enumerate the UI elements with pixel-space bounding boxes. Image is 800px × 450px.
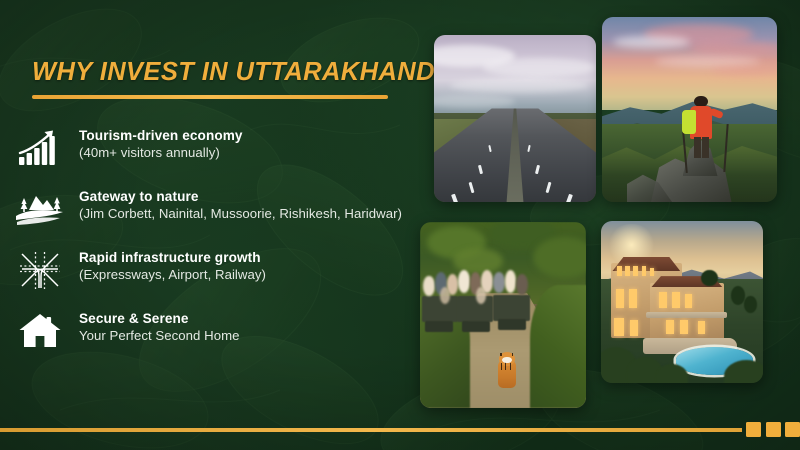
house-icon — [14, 309, 66, 353]
feature-item-secure-home: Secure & Serene Your Perfect Second Home — [14, 309, 414, 353]
growth-chart-icon — [14, 126, 66, 170]
photo-villa — [601, 221, 763, 383]
photo-hiker — [602, 17, 777, 202]
feature-subtitle: (Jim Corbett, Nainital, Mussoorie, Rishi… — [79, 205, 402, 222]
feature-item-infrastructure: Rapid infrastructure growth (Expressways… — [14, 248, 414, 292]
feature-title: Secure & Serene — [79, 310, 240, 327]
feature-text-secure-home: Secure & Serene Your Perfect Second Home — [79, 309, 240, 345]
feature-list: Tourism-driven economy (40m+ visitors an… — [14, 126, 414, 353]
mountain-nature-icon — [14, 187, 66, 231]
title-underline — [32, 95, 388, 99]
feature-item-nature: Gateway to nature (Jim Corbett, Nainital… — [14, 187, 414, 231]
decor-square — [766, 422, 781, 437]
feature-subtitle: Your Perfect Second Home — [79, 327, 240, 344]
title-block: WHY INVEST IN UTTARAKHAND — [32, 58, 402, 99]
feature-item-tourism: Tourism-driven economy (40m+ visitors an… — [14, 126, 414, 170]
slide-root: WHY INVEST IN UTTARAKHAND — [0, 0, 800, 450]
bottom-gold-rule — [0, 428, 742, 432]
feature-title: Gateway to nature — [79, 188, 402, 205]
photo-safari — [420, 222, 586, 408]
highway-interchange-icon — [14, 248, 66, 292]
left-content-column: WHY INVEST IN UTTARAKHAND — [0, 0, 420, 450]
feature-subtitle: (40m+ visitors annually) — [79, 144, 243, 161]
feature-text-tourism: Tourism-driven economy (40m+ visitors an… — [79, 126, 243, 162]
feature-title: Tourism-driven economy — [79, 127, 243, 144]
photo-highway — [434, 35, 596, 202]
feature-title: Rapid infrastructure growth — [79, 249, 266, 266]
decor-square — [785, 422, 800, 437]
feature-subtitle: (Expressways, Airport, Railway) — [79, 266, 266, 283]
feature-text-nature: Gateway to nature (Jim Corbett, Nainital… — [79, 187, 402, 223]
bottom-square-decoration — [746, 422, 800, 437]
feature-text-infrastructure: Rapid infrastructure growth (Expressways… — [79, 248, 266, 284]
page-title: WHY INVEST IN UTTARAKHAND — [32, 58, 402, 87]
decor-square — [746, 422, 761, 437]
